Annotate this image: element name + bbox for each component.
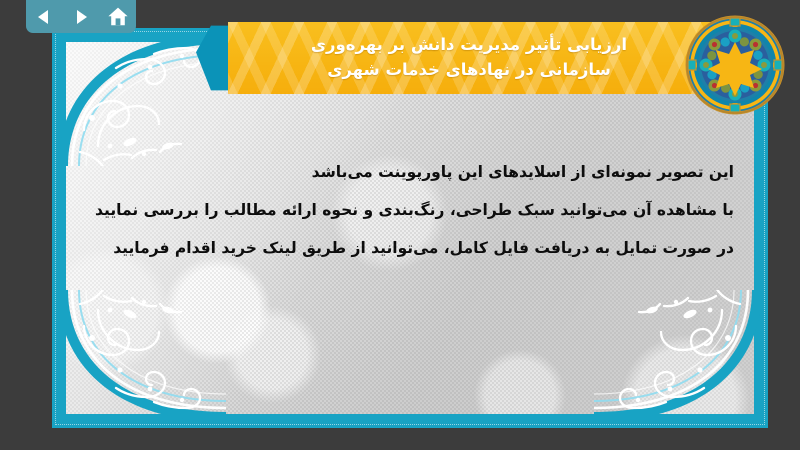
previous-icon bbox=[34, 7, 54, 27]
body-line-2: با مشاهده آن می‌توانید سبک طراحی، رنگ‌بن… bbox=[86, 192, 734, 230]
slide-viewer: این تصویر نمونه‌ای از اسلایدهای این پاور… bbox=[0, 0, 800, 450]
title-line-2: سازمانی در نهادهای خدمات شهری bbox=[327, 59, 611, 82]
previous-button[interactable] bbox=[31, 5, 57, 29]
next-button[interactable] bbox=[68, 5, 94, 29]
body-line-1: این تصویر نمونه‌ای از اسلایدهای این پاور… bbox=[86, 154, 734, 192]
body-line-3: در صورت تمایل به دریافت فایل کامل، می‌تو… bbox=[86, 230, 734, 268]
slide-title-banner: ارزیابی تأثیر مدیریت دانش بر بهره‌وری سا… bbox=[228, 22, 716, 94]
home-icon bbox=[107, 6, 129, 27]
next-icon bbox=[71, 7, 91, 27]
home-button[interactable] bbox=[105, 5, 131, 29]
title-line-1: ارزیابی تأثیر مدیریت دانش بر بهره‌وری bbox=[311, 34, 627, 57]
page-title: ارزیابی تأثیر مدیریت دانش بر بهره‌وری سا… bbox=[228, 22, 716, 94]
slide-body-text: این تصویر نمونه‌ای از اسلایدهای این پاور… bbox=[86, 154, 734, 268]
navigation-toolbar bbox=[26, 0, 136, 33]
